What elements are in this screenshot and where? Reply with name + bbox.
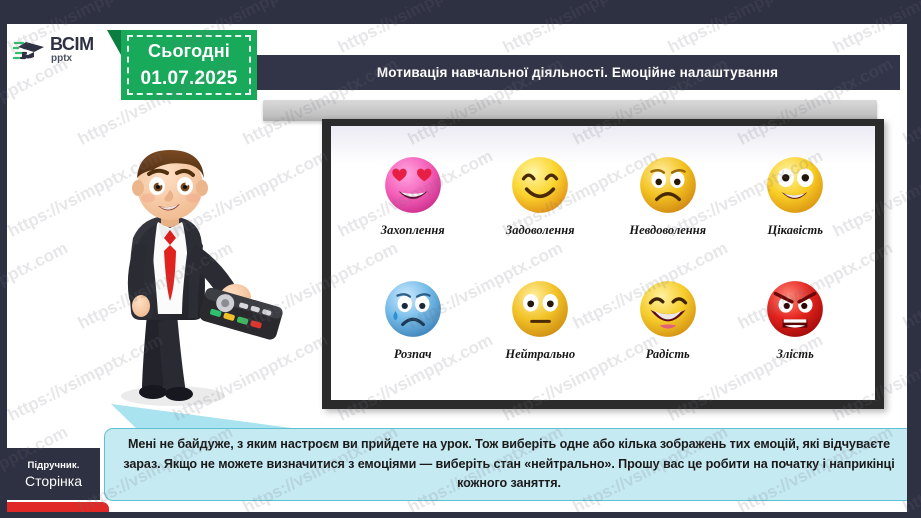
crying-tear-emoji — [380, 276, 446, 342]
projector-screen-frame: Захоплення — [322, 119, 884, 409]
lesson-title-bar: Мотивація навчальної діяльності. Емоційн… — [255, 55, 900, 90]
emotion-item[interactable]: Радість — [606, 276, 730, 392]
smiling-emoji — [507, 152, 573, 218]
watermark-text: https://vsimpptx.com — [830, 514, 921, 518]
emotion-item[interactable]: Розпач — [351, 276, 475, 392]
emotion-label: Невдоволення — [629, 223, 706, 238]
top-header-band — [0, 0, 921, 24]
date-badge: Сьогодні 01.07.2025 — [121, 30, 257, 100]
emotion-label: Злість — [777, 347, 814, 362]
brand-logo: ВСІМ pptx — [7, 24, 108, 75]
emotion-label: Цікавість — [767, 223, 823, 238]
neutral-emoji — [507, 276, 573, 342]
instruction-callout: Мені не байдуже, з яким настроєм ви прий… — [104, 428, 907, 501]
textbook-label-line1: Підручник. — [28, 460, 80, 471]
emotion-item[interactable]: Задоволення — [479, 152, 603, 268]
date-badge-label: Сьогодні — [148, 41, 230, 62]
watermark-text: https://vsimpptx.com — [0, 146, 1, 241]
angry-emoji — [762, 276, 828, 342]
slide-canvas: ВСІМ pptx Сьогодні 01.07.2025 Мотивація … — [7, 24, 907, 512]
emotion-item[interactable]: Захоплення — [351, 152, 475, 268]
emotion-item[interactable]: Нейтрально — [479, 276, 603, 392]
emotion-item[interactable]: Невдоволення — [606, 152, 730, 268]
slide-stage: ВСІМ pptx Сьогодні 01.07.2025 Мотивація … — [0, 0, 921, 518]
graduation-cap-icon — [13, 36, 47, 64]
watermark-text: https://vsimpptx.com — [335, 514, 496, 518]
laughing-emoji — [635, 276, 701, 342]
watermark-text: https://vsimpptx.com — [500, 514, 661, 518]
red-banner: ПЕРЕДНІЙ — [7, 502, 109, 512]
sad-frown-emoji — [635, 152, 701, 218]
watermark-text: https://vsimpptx.com — [5, 514, 166, 518]
logo-subtitle: pptx — [51, 54, 94, 64]
watermark-text: https://vsimpptx.com — [665, 514, 826, 518]
heart-eyes-emoji — [380, 152, 446, 218]
emotion-label: Радість — [646, 347, 690, 362]
emotion-label: Розпач — [394, 347, 432, 362]
emotion-item[interactable]: Злість — [734, 276, 858, 392]
watermark-text: https://vsimpptx.com — [170, 514, 331, 518]
projector-screen: Захоплення — [331, 126, 875, 400]
watermark-text: https://vsimpptx.com — [0, 514, 1, 518]
instruction-text: Мені не байдуже, з яким настроєм ви прий… — [115, 435, 903, 494]
page-title: Мотивація навчальної діяльності. Емоційн… — [377, 65, 778, 80]
textbook-label-line2: Сторінка — [25, 473, 82, 489]
businessman-with-remote-illustration — [95, 146, 295, 414]
logo-title: ВСІМ — [50, 35, 94, 53]
emotion-label: Захоплення — [381, 223, 445, 238]
emotion-grid: Захоплення — [351, 152, 857, 392]
emotion-label: Задоволення — [506, 223, 575, 238]
textbook-page-label: Підручник. Сторінка — [7, 448, 100, 500]
emotion-label: Нейтрально — [505, 347, 575, 362]
watermark-text: https://vsimpptx.com — [0, 330, 1, 425]
projector-housing — [263, 100, 877, 121]
emotion-item[interactable]: Цікавість — [734, 152, 858, 268]
surprised-emoji — [762, 152, 828, 218]
date-badge-value: 01.07.2025 — [140, 68, 237, 90]
